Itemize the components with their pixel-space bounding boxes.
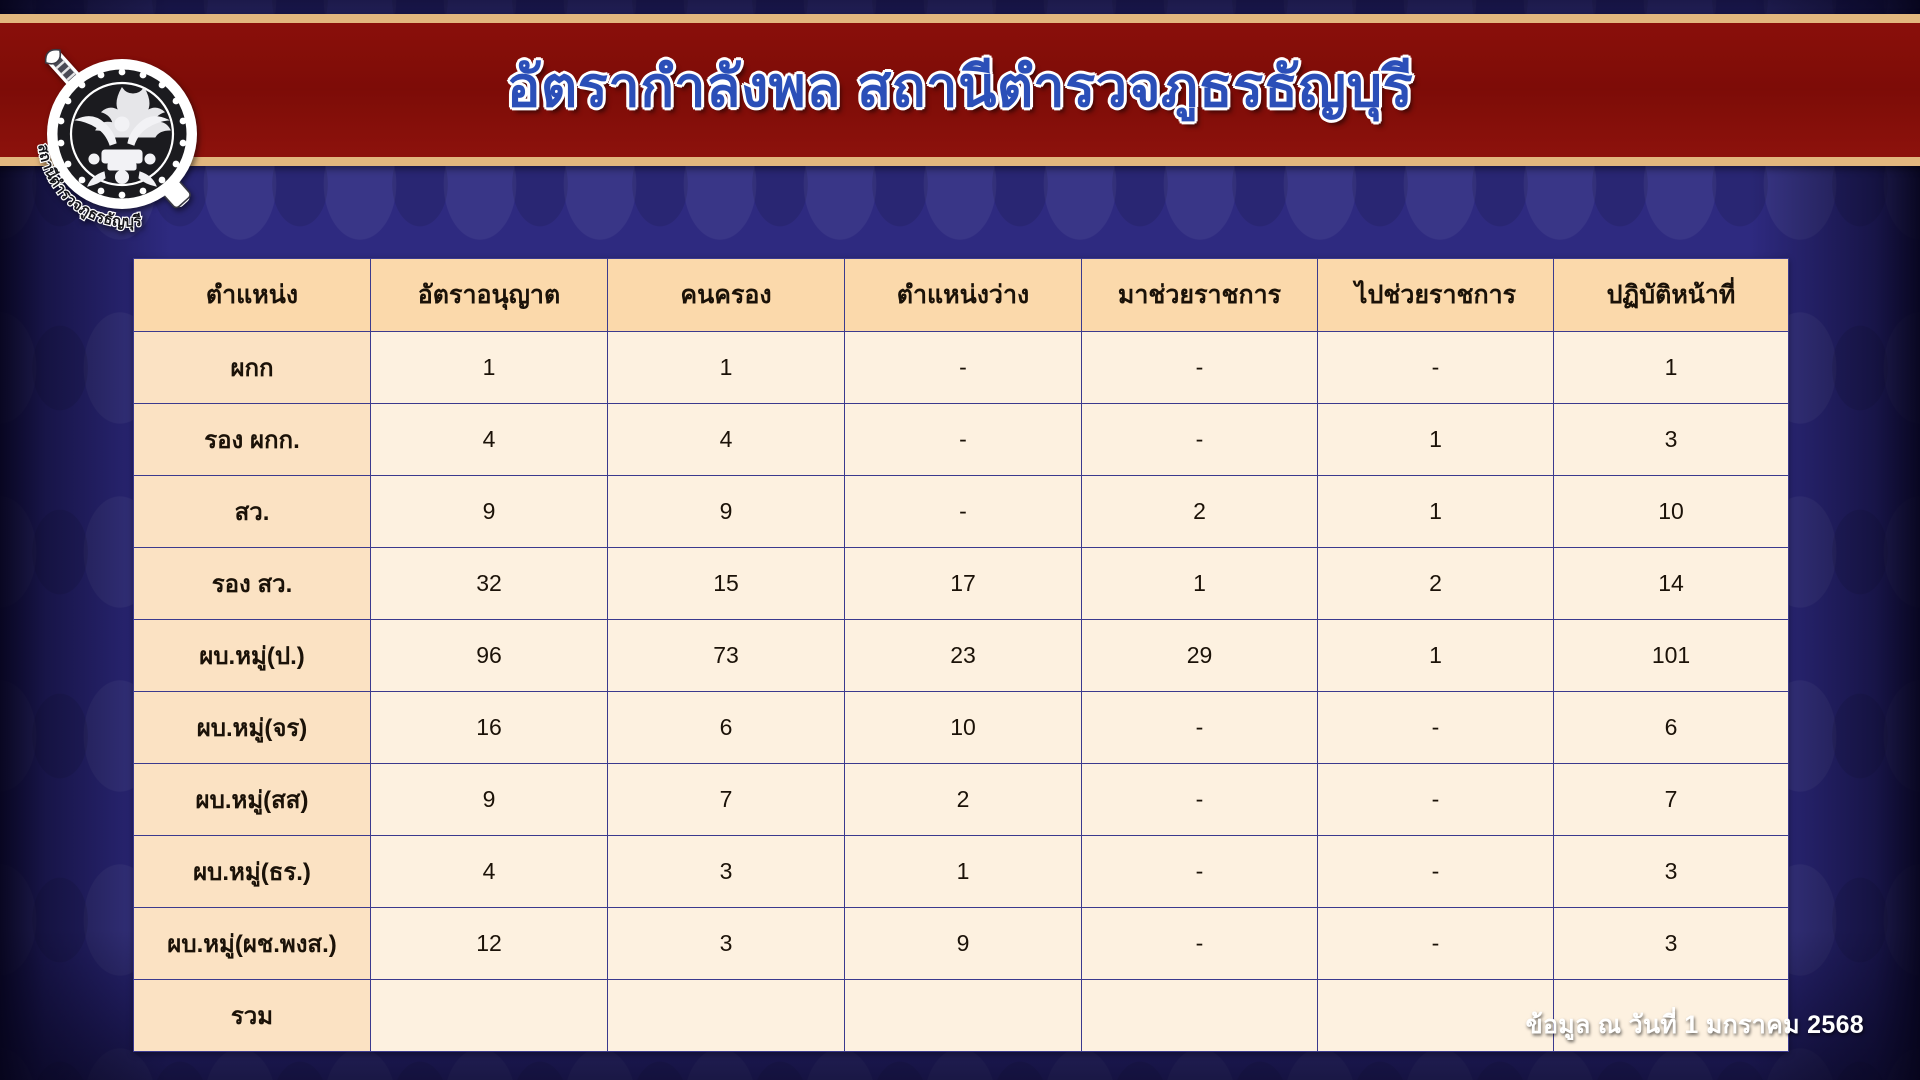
cell-outgoing-detail: - (1318, 764, 1554, 836)
cell-authorized: 9 (371, 764, 608, 836)
row-label: ผกก (134, 332, 371, 404)
table-row: รอง สว. 32 15 17 1 2 14 (134, 548, 1789, 620)
cell-authorized: 9 (371, 476, 608, 548)
cell-on-duty: 101 (1554, 620, 1789, 692)
cell-on-duty: 3 (1554, 836, 1789, 908)
cell-filled: 15 (608, 548, 845, 620)
cell-authorized: 1 (371, 332, 608, 404)
cell-incoming-detail: - (1082, 764, 1318, 836)
row-label: สว. (134, 476, 371, 548)
column-header-authorized: อัตราอนุญาต (371, 259, 608, 332)
cell-incoming-detail: 1 (1082, 548, 1318, 620)
cell-filled: 1 (608, 332, 845, 404)
cell-vacant: 1 (845, 836, 1082, 908)
cell-filled: 7 (608, 764, 845, 836)
cell-incoming-detail: 29 (1082, 620, 1318, 692)
cell-outgoing-detail: 1 (1318, 476, 1554, 548)
personnel-table-container: ตำแหน่ง อัตราอนุญาต คนครอง ตำแหน่งว่าง ม… (133, 258, 1788, 1052)
cell-on-duty: 10 (1554, 476, 1789, 548)
cell-authorized: 4 (371, 404, 608, 476)
cell-authorized: 4 (371, 836, 608, 908)
table-row: รอง ผกก. 4 4 - - 1 3 (134, 404, 1789, 476)
cell-incoming-detail: - (1082, 908, 1318, 980)
cell-outgoing-detail: - (1318, 908, 1554, 980)
cell-outgoing-detail: 1 (1318, 404, 1554, 476)
cell-outgoing-detail: 1 (1318, 620, 1554, 692)
row-label: ผบ.หมู่(ผช.พงส.) (134, 908, 371, 980)
cell-on-duty: 1 (1554, 332, 1789, 404)
title-banner: อัตรากำลังพล สถานีตำรวจภูธรธัญบุรี (0, 14, 1920, 166)
row-label-total: รวม (134, 980, 371, 1052)
cell-outgoing-detail: - (1318, 692, 1554, 764)
cell-on-duty: 7 (1554, 764, 1789, 836)
cell-total-incoming-detail (1082, 980, 1318, 1052)
slide-canvas: อัตรากำลังพล สถานีตำรวจภูธรธัญบุรี (0, 0, 1920, 1080)
cell-on-duty: 6 (1554, 692, 1789, 764)
cell-outgoing-detail: 2 (1318, 548, 1554, 620)
table-row: ผบ.หมู่(สส) 9 7 2 - - 7 (134, 764, 1789, 836)
cell-on-duty: 3 (1554, 404, 1789, 476)
cell-vacant: 2 (845, 764, 1082, 836)
cell-filled: 3 (608, 908, 845, 980)
table-row: ผบ.หมู่(ผช.พงส.) 12 3 9 - - 3 (134, 908, 1789, 980)
cell-on-duty: 14 (1554, 548, 1789, 620)
personnel-roster-table: ตำแหน่ง อัตราอนุญาต คนครอง ตำแหน่งว่าง ม… (133, 258, 1789, 1052)
cell-vacant: 9 (845, 908, 1082, 980)
table-row: สว. 9 9 - 2 1 10 (134, 476, 1789, 548)
cell-filled: 3 (608, 836, 845, 908)
cell-outgoing-detail: - (1318, 332, 1554, 404)
cell-outgoing-detail: - (1318, 836, 1554, 908)
row-label: รอง ผกก. (134, 404, 371, 476)
cell-vacant: 23 (845, 620, 1082, 692)
row-label: ผบ.หมู่(ป.) (134, 620, 371, 692)
cell-vacant: - (845, 332, 1082, 404)
cell-authorized: 12 (371, 908, 608, 980)
data-as-of-note: ข้อมูล ณ วันที่ 1 มกราคม 2568 (1526, 1005, 1864, 1045)
cell-authorized: 96 (371, 620, 608, 692)
cell-total-outgoing-detail (1318, 980, 1554, 1052)
cell-incoming-detail: - (1082, 692, 1318, 764)
cell-filled: 9 (608, 476, 845, 548)
cell-vacant: - (845, 404, 1082, 476)
cell-incoming-detail: - (1082, 404, 1318, 476)
cell-total-filled (608, 980, 845, 1052)
table-row: ผกก 1 1 - - - 1 (134, 332, 1789, 404)
column-header-vacant: ตำแหน่งว่าง (845, 259, 1082, 332)
column-header-position: ตำแหน่ง (134, 259, 371, 332)
cell-vacant: 10 (845, 692, 1082, 764)
row-label: รอง สว. (134, 548, 371, 620)
column-header-outgoing-detail: ไปช่วยราชการ (1318, 259, 1554, 332)
cell-vacant: 17 (845, 548, 1082, 620)
cell-filled: 6 (608, 692, 845, 764)
cell-vacant: - (845, 476, 1082, 548)
page-title: อัตรากำลังพล สถานีตำรวจภูธรธัญบุรี (507, 59, 1413, 121)
cell-authorized: 32 (371, 548, 608, 620)
column-header-incoming-detail: มาช่วยราชการ (1082, 259, 1318, 332)
cell-total-authorized (371, 980, 608, 1052)
cell-on-duty: 3 (1554, 908, 1789, 980)
table-header-row: ตำแหน่ง อัตราอนุญาต คนครอง ตำแหน่งว่าง ม… (134, 259, 1789, 332)
column-header-filled: คนครอง (608, 259, 845, 332)
cell-incoming-detail: 2 (1082, 476, 1318, 548)
column-header-on-duty: ปฏิบัติหน้าที่ (1554, 259, 1789, 332)
thai-police-badge-icon: สถานีตำรวจภูธรธัญบุรี สถานีตำรวจภูธรธัญบ… (4, 16, 234, 246)
row-label: ผบ.หมู่(ธร.) (134, 836, 371, 908)
row-label: ผบ.หมู่(จร) (134, 692, 371, 764)
cell-total-vacant (845, 980, 1082, 1052)
table-row: ผบ.หมู่(ธร.) 4 3 1 - - 3 (134, 836, 1789, 908)
cell-filled: 4 (608, 404, 845, 476)
cell-authorized: 16 (371, 692, 608, 764)
cell-filled: 73 (608, 620, 845, 692)
cell-incoming-detail: - (1082, 836, 1318, 908)
row-label: ผบ.หมู่(สส) (134, 764, 371, 836)
table-row: ผบ.หมู่(ป.) 96 73 23 29 1 101 (134, 620, 1789, 692)
table-row: ผบ.หมู่(จร) 16 6 10 - - 6 (134, 692, 1789, 764)
cell-incoming-detail: - (1082, 332, 1318, 404)
